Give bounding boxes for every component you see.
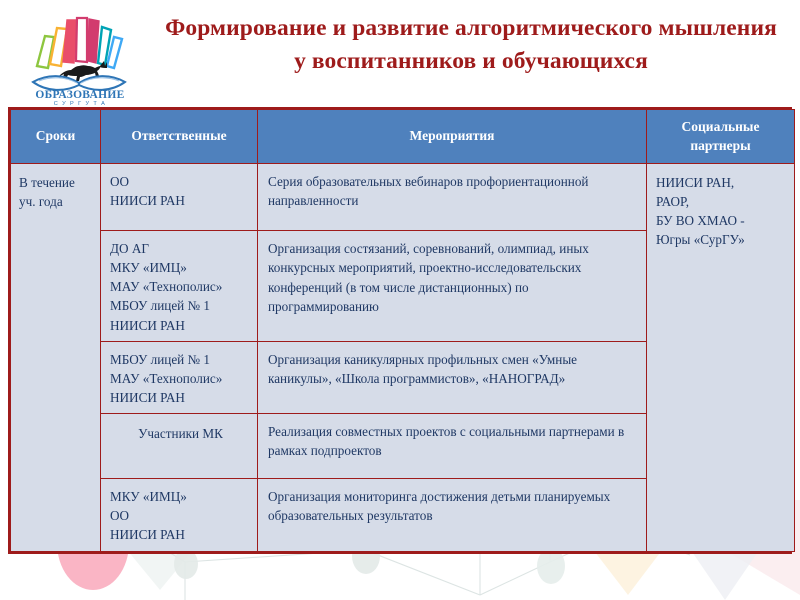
logo-line2: С У Р Г У Т А	[54, 101, 107, 106]
page-title: Формирование и развитие алгоритмического…	[160, 12, 782, 79]
cell-period: В течение уч. года	[11, 164, 101, 552]
cell-partners: НИИСИ РАН, РАОР, БУ ВО ХМАО - Югры «СурГ…	[647, 164, 795, 552]
logo-line1: ОБРАЗОВАНИЕ	[35, 89, 124, 101]
cell-event: Организация состязаний, соревнований, ол…	[258, 231, 647, 342]
col-header-event: Мероприятия	[258, 110, 647, 164]
logo-rays	[37, 18, 122, 68]
cell-event: Серия образовательных вебинаров профорие…	[258, 164, 647, 231]
table-header: Сроки Ответственные Мероприятия Социальн…	[11, 110, 795, 164]
slide-header: ОБРАЗОВАНИЕ С У Р Г У Т А Формирование и…	[0, 0, 800, 107]
table-header-row: Сроки Ответственные Мероприятия Социальн…	[11, 110, 795, 164]
table-body: В течение уч. года ОО НИИСИ РАН Серия об…	[11, 164, 795, 552]
cell-responsible: Участники МК	[101, 414, 258, 479]
obrazovanie-surguta-logo-icon: ОБРАЗОВАНИЕ С У Р Г У Т А	[21, 6, 139, 106]
logo: ОБРАЗОВАНИЕ С У Р Г У Т А	[0, 2, 160, 106]
cell-event: Организация мониторинга достижения детьм…	[258, 479, 647, 551]
cell-responsible: МБОУ лицей № 1 МАУ «Технополис» НИИСИ РА…	[101, 341, 258, 413]
cell-responsible: МКУ «ИМЦ» ОО НИИСИ РАН	[101, 479, 258, 551]
plan-table-container: Сроки Ответственные Мероприятия Социальн…	[8, 107, 792, 554]
cell-event: Организация каникулярных профильных смен…	[258, 341, 647, 413]
cell-responsible: ДО АГ МКУ «ИМЦ» МАУ «Технополис» МБОУ ли…	[101, 231, 258, 342]
col-header-period: Сроки	[11, 110, 101, 164]
table-row: В течение уч. года ОО НИИСИ РАН Серия об…	[11, 164, 795, 231]
plan-table: Сроки Ответственные Мероприятия Социальн…	[10, 109, 795, 552]
cell-event: Реализация совместных проектов с социаль…	[258, 414, 647, 479]
cell-responsible: ОО НИИСИ РАН	[101, 164, 258, 231]
title-box: Формирование и развитие алгоритмического…	[160, 2, 800, 79]
col-header-responsible: Ответственные	[101, 110, 258, 164]
col-header-partners: Социальные партнеры	[647, 110, 795, 164]
